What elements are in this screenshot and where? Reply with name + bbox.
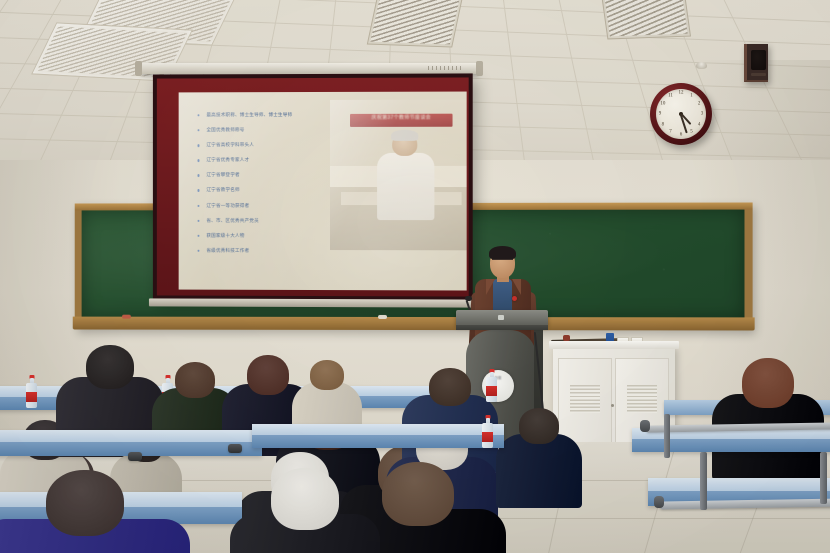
audience-torso xyxy=(496,434,582,508)
desk-leg xyxy=(700,452,707,510)
lecture-hall-photo: 121234567891011 最高技术职称、博士生导师、博士生导师全国优秀教师… xyxy=(0,0,830,553)
water-bottle xyxy=(482,418,493,448)
desk-leg xyxy=(820,452,827,504)
audience-head xyxy=(429,368,471,406)
rail-end-cap xyxy=(640,420,650,432)
audience-head xyxy=(271,468,339,530)
lecture-desk-row xyxy=(252,424,504,448)
bench-rail xyxy=(128,452,142,461)
desk-leg xyxy=(664,414,670,458)
audience-member-near-podium xyxy=(496,408,582,518)
water-bottle xyxy=(26,378,37,408)
audience-head xyxy=(175,362,215,398)
foreground-audience-white-hair xyxy=(230,468,380,553)
audience-head xyxy=(742,358,794,408)
water-bottle xyxy=(486,372,497,402)
audience-head xyxy=(46,470,124,536)
foreground-audience-purple xyxy=(0,470,190,553)
audience-head xyxy=(519,408,559,444)
audience-head xyxy=(382,462,454,526)
audience-head xyxy=(310,360,344,390)
seating-and-audience-layer xyxy=(0,0,830,553)
bench-rail xyxy=(228,444,242,453)
rail-end-cap xyxy=(654,496,664,508)
audience-head xyxy=(86,345,134,389)
audience-head xyxy=(247,355,289,395)
